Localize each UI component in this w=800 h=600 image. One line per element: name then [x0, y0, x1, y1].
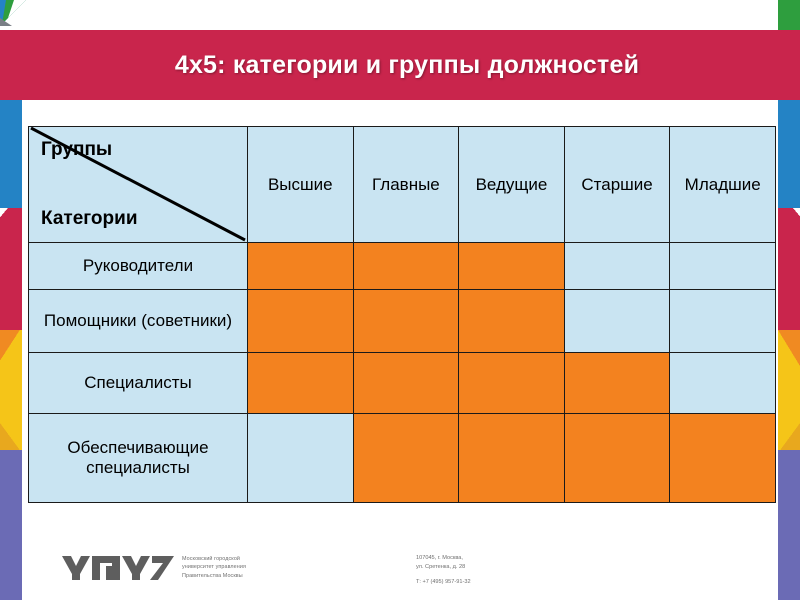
- title-banner: 4x5: категории и группы должностей: [0, 30, 790, 100]
- column-header-glavnye: Главные: [353, 127, 459, 243]
- cell-r3-c4[interactable]: [670, 414, 776, 503]
- cell-r2-c3[interactable]: [564, 353, 670, 414]
- table-header-row: Группы Категории Высшие Главные Ведущие …: [29, 127, 776, 243]
- slide-footer: Московский городской университет управле…: [0, 548, 800, 600]
- table-row: Помощники (советники): [29, 290, 776, 353]
- table-corner-header: Группы Категории: [29, 127, 248, 243]
- cell-r2-c4[interactable]: [670, 353, 776, 414]
- table-row: Руководители: [29, 243, 776, 290]
- table-row: Специалисты: [29, 353, 776, 414]
- cell-r0-c0[interactable]: [248, 243, 354, 290]
- strip-segment-yellow-right: [778, 330, 800, 450]
- address-line-2: ул. Сретенка, д. 28: [416, 563, 471, 572]
- logo-caption: Московский городской университет управле…: [182, 552, 246, 580]
- matrix-table-wrap: Группы Категории Высшие Главные Ведущие …: [28, 126, 776, 503]
- column-header-vedushchie: Ведущие: [459, 127, 565, 243]
- wedge-accent-right: [778, 208, 800, 234]
- column-header-mladshie: Младшие: [670, 127, 776, 243]
- strip-segment-blue: [0, 100, 22, 208]
- row-header-spetsialisty: Специалисты: [29, 353, 248, 414]
- address-line-1: 107045, г. Москва,: [416, 554, 471, 563]
- university-logo: Московский городской университет управле…: [62, 552, 246, 582]
- wedge-orange-accent: [0, 330, 22, 364]
- row-header-pomoshchniki: Помощники (советники): [29, 290, 248, 353]
- wedge-accent: [0, 208, 22, 234]
- wedge-gold-accent: [0, 420, 22, 450]
- table-row: Обеспечивающие специалисты: [29, 414, 776, 503]
- corner-label-groups: Группы: [41, 139, 112, 161]
- wedge-orange-accent-right: [778, 330, 800, 366]
- corner-accent-top-left: [0, 0, 26, 26]
- row-header-rukovoditeli: Руководители: [29, 243, 248, 290]
- strip-segment-green-right: [778, 0, 800, 30]
- strip-segment-crimson-right: [778, 208, 800, 330]
- logo-caption-line-1: Московский городской: [182, 555, 246, 563]
- row-header-obespechivayushchie: Обеспечивающие специалисты: [29, 414, 248, 503]
- column-header-starshie: Старшие: [564, 127, 670, 243]
- cell-r0-c1[interactable]: [353, 243, 459, 290]
- strip-segment-yellow: [0, 330, 22, 450]
- cell-r1-c1[interactable]: [353, 290, 459, 353]
- cell-r1-c0[interactable]: [248, 290, 354, 353]
- cell-r1-c2[interactable]: [459, 290, 565, 353]
- cell-r0-c3[interactable]: [564, 243, 670, 290]
- cell-r3-c0[interactable]: [248, 414, 354, 503]
- column-header-vysshie: Высшие: [248, 127, 354, 243]
- cell-r1-c4[interactable]: [670, 290, 776, 353]
- strip-segment-crimson: [0, 208, 22, 330]
- strip-segment-blue-right: [778, 100, 800, 208]
- cell-r3-c3[interactable]: [564, 414, 670, 503]
- cell-r0-c2[interactable]: [459, 243, 565, 290]
- left-decor-strip: [0, 100, 22, 600]
- phone-number: Т: +7 (495) 957-91-32: [416, 578, 471, 587]
- logo-caption-line-3: Правительства Москвы: [182, 572, 246, 580]
- table-body: Руководители Помощники (советники): [29, 243, 776, 503]
- cell-r1-c3[interactable]: [564, 290, 670, 353]
- mguu-logo-icon: [62, 552, 174, 582]
- categories-groups-table: Группы Категории Высшие Главные Ведущие …: [28, 126, 776, 503]
- cell-r2-c2[interactable]: [459, 353, 565, 414]
- wedge-gold-accent-right: [778, 420, 800, 450]
- logo-caption-line-2: университет управления: [182, 563, 246, 571]
- corner-accent-icon: [0, 0, 26, 26]
- cell-r2-c0[interactable]: [248, 353, 354, 414]
- slide-root: 4x5: категории и группы должностей Групп…: [0, 0, 800, 600]
- corner-label-categories: Категории: [41, 208, 138, 230]
- contact-info: 107045, г. Москва, ул. Сретенка, д. 28 Т…: [416, 554, 471, 588]
- cell-r3-c2[interactable]: [459, 414, 565, 503]
- cell-r0-c4[interactable]: [670, 243, 776, 290]
- cell-r3-c1[interactable]: [353, 414, 459, 503]
- table-head: Группы Категории Высшие Главные Ведущие …: [29, 127, 776, 243]
- cell-r2-c1[interactable]: [353, 353, 459, 414]
- page-title: 4x5: категории и группы должностей: [175, 51, 639, 80]
